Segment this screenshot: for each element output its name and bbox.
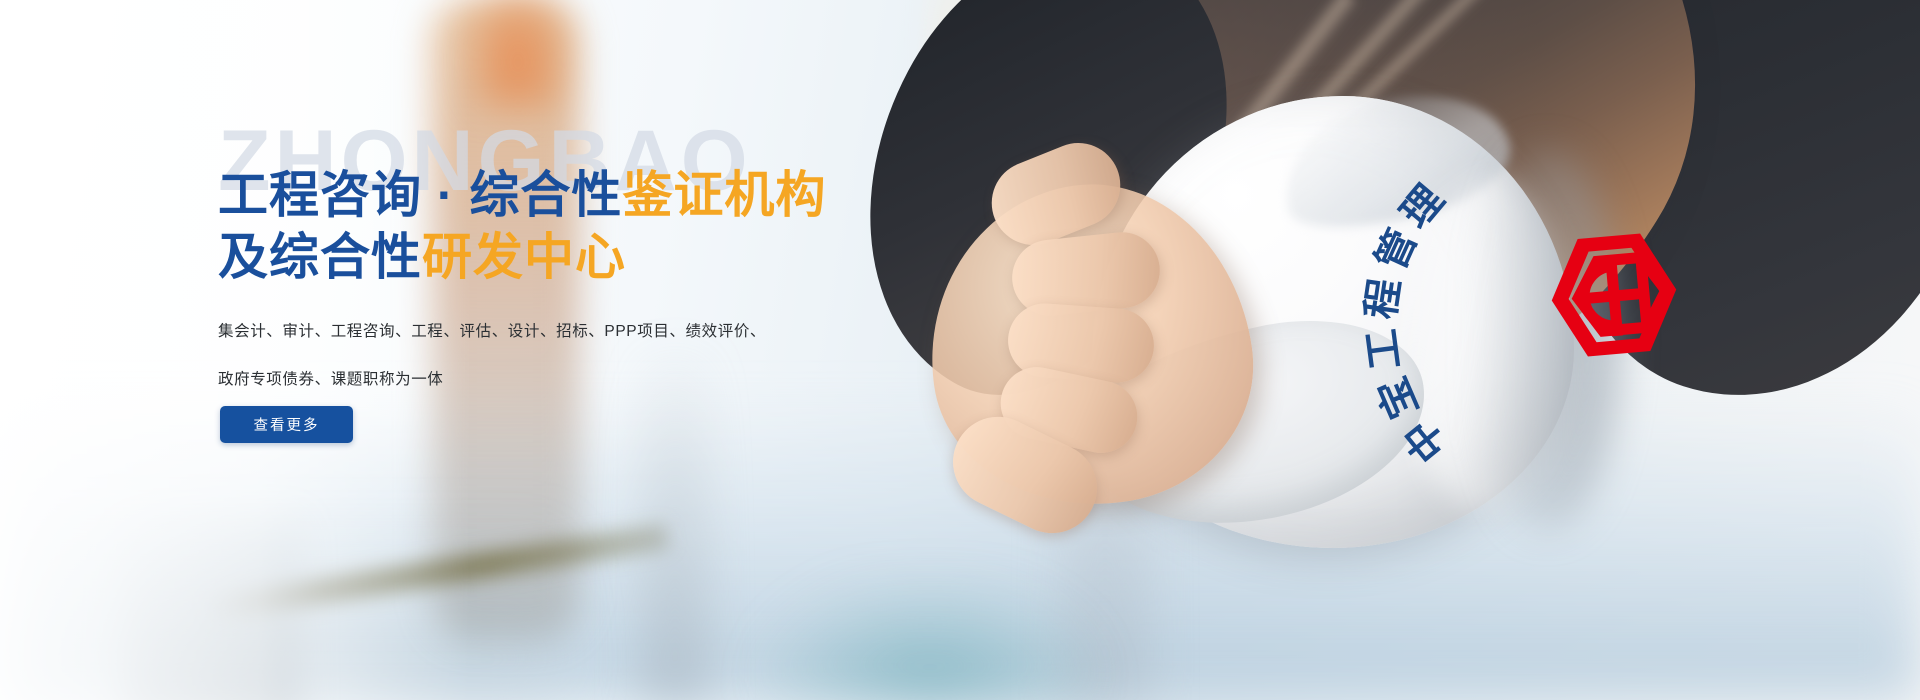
- company-logo-mark: [1543, 230, 1685, 359]
- subcopy-line-1: 集会计、审计、工程咨询、工程、评估、设计、招标、PPP项目、绩效评价、: [218, 308, 818, 356]
- subcopy-line-2: 政府专项债券、课题职称为一体: [218, 356, 818, 404]
- subcopy-block: 集会计、审计、工程咨询、工程、评估、设计、招标、PPP项目、绩效评价、 政府专项…: [218, 308, 818, 404]
- headline-line-1: 工程咨询 · 综合性鉴证机构: [218, 164, 978, 226]
- headline-block: 工程咨询 · 综合性鉴证机构 及综合性研发中心: [218, 164, 978, 288]
- hero-banner: 中宝工程管理 ZHONGBAO 工程咨询 · 综合性鉴证机构: [0, 0, 1920, 700]
- headline-line-1-primary: 工程咨询 · 综合性: [218, 167, 622, 223]
- headline-line-1-accent: 鉴证机构: [622, 167, 826, 223]
- headline-line-2: 及综合性研发中心: [218, 226, 978, 288]
- headline-line-2-accent: 研发中心: [422, 229, 626, 285]
- headline-line-2-primary: 及综合性: [218, 229, 422, 285]
- view-more-button[interactable]: 查看更多: [220, 406, 353, 443]
